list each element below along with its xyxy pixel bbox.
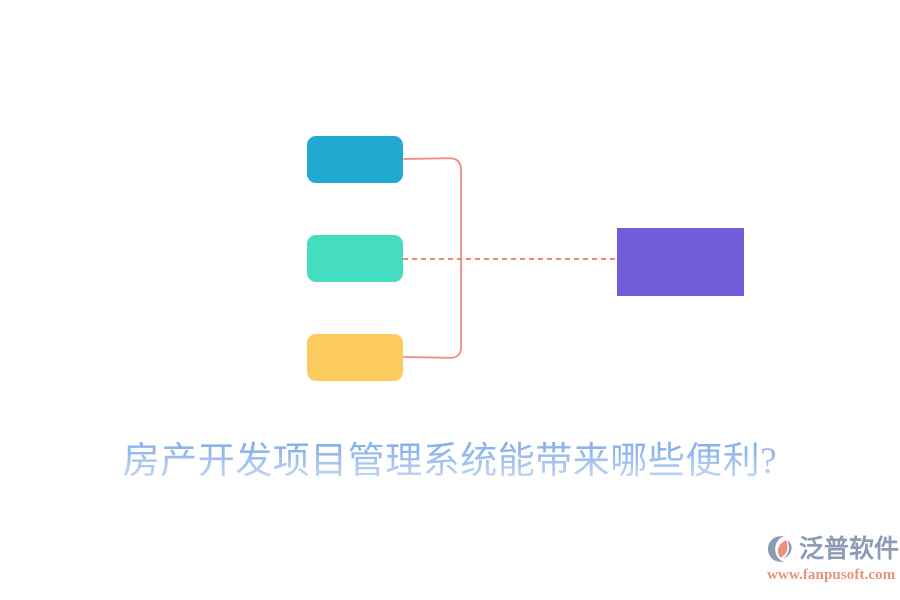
- right-block-label: [617, 228, 744, 296]
- left-block-top-label: [307, 136, 403, 183]
- watermark-brand-row: 泛普软件: [766, 534, 899, 564]
- watermark: 泛普软件 www.fanpusoft.com: [766, 534, 894, 592]
- fan-logo-icon: [766, 534, 796, 564]
- diagram: [0, 0, 900, 420]
- slide-canvas: 房产开发项目管理系统能带来哪些便利? 泛普软件 www.fanpusoft.co…: [0, 0, 900, 600]
- right-block[interactable]: [617, 228, 744, 296]
- page-title: 房产开发项目管理系统能带来哪些便利?: [123, 430, 777, 484]
- left-block-middle[interactable]: [307, 235, 403, 282]
- left-block-bottom[interactable]: [307, 334, 403, 381]
- left-block-top[interactable]: [307, 136, 403, 183]
- left-block-middle-label: [307, 235, 403, 282]
- watermark-url-text: www.fanpusoft.com: [767, 567, 895, 584]
- title-area: 房产开发项目管理系统能带来哪些便利?: [0, 422, 900, 492]
- watermark-brand-text: 泛普软件: [799, 534, 899, 564]
- grouping-bracket-path: [404, 158, 461, 358]
- connector-layer: [0, 0, 900, 420]
- left-block-bottom-label: [307, 334, 403, 381]
